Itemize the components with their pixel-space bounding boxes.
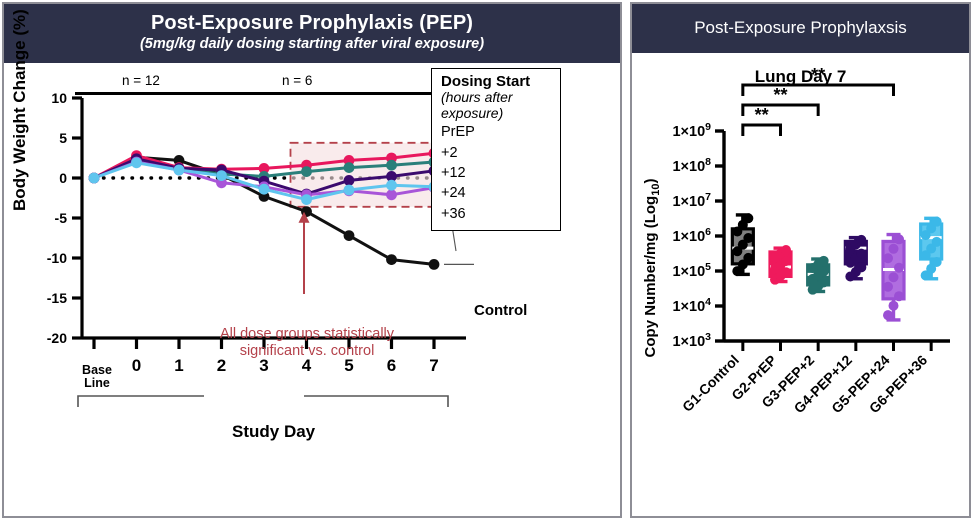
svg-text:-10: -10 — [47, 250, 67, 266]
left-header-subtitle: (5mg/kg daily dosing starting after vira… — [10, 36, 614, 53]
legend-subtitle-line1: (hours after — [441, 90, 552, 106]
svg-text:1×109: 1×109 — [672, 121, 711, 140]
svg-text:**: ** — [755, 105, 769, 125]
n-bar-6 — [212, 92, 445, 95]
svg-text:**: ** — [773, 85, 787, 105]
n-label-12: n = 12 — [122, 73, 160, 88]
svg-text:0: 0 — [132, 356, 141, 375]
left-header-title: Post-Exposure Prophylaxis (PEP) — [10, 12, 614, 35]
legend-title: Dosing Start — [441, 74, 552, 91]
svg-text:-5: -5 — [55, 210, 68, 226]
svg-text:1×104: 1×104 — [672, 296, 711, 315]
legend-item-plus24: +24 — [441, 183, 552, 203]
right-header-title: Post-Exposure Prophylaxsis — [694, 18, 907, 37]
annotation-line1: All dose groups statistically — [220, 326, 394, 342]
lung-day-title: Lung Day 7 — [632, 67, 969, 87]
ylabel-main: Copy Number/mg (Log — [642, 196, 659, 358]
svg-text:0: 0 — [59, 170, 67, 186]
left-y-axis-label: Body Weight Change (%) — [10, 11, 30, 211]
svg-text:1×106: 1×106 — [672, 226, 711, 245]
legend-subtitle-line2: exposure) — [441, 106, 552, 122]
svg-text:1×105: 1×105 — [672, 261, 711, 280]
svg-text:10: 10 — [51, 90, 67, 106]
x-axis-label: Study Day — [232, 422, 315, 442]
svg-text:G1-Control: G1-Control — [679, 352, 742, 415]
svg-text:1×103: 1×103 — [672, 331, 711, 350]
ylabel-end: ) — [642, 179, 659, 184]
right-panel-header: Post-Exposure Prophylaxsis — [632, 4, 969, 53]
right-panel: Post-Exposure Prophylaxsis Lung Day 7 Co… — [630, 2, 971, 518]
svg-text:1×108: 1×108 — [672, 156, 711, 175]
legend-item-prep: PrEP — [441, 122, 552, 142]
svg-text:1×107: 1×107 — [672, 191, 711, 210]
svg-text:-15: -15 — [47, 290, 67, 306]
ylabel-sub: 10 — [650, 184, 662, 196]
svg-text:5: 5 — [59, 130, 67, 146]
legend-item-plus36: +36 — [441, 204, 552, 224]
right-y-axis-label: Copy Number/mg (Log10) — [642, 153, 662, 383]
svg-text:-20: -20 — [47, 330, 67, 346]
legend-item-plus2: +2 — [441, 143, 552, 163]
dosing-start-legend: Dosing Start (hours after exposure) PrEP… — [431, 68, 561, 231]
significance-annotation: All dose groups statistically significan… — [182, 326, 432, 361]
n-label-6: n = 6 — [282, 73, 312, 88]
left-plot-area: Body Weight Change (%) n = 12 n = 6 1050… — [4, 63, 620, 516]
control-series-label: Control — [474, 302, 527, 319]
viral-load-boxplot: 1×1091×1081×1071×1061×1051×1041×103*****… — [632, 53, 969, 488]
x-tick-baseline: Base Line — [74, 364, 120, 390]
left-panel: Post-Exposure Prophylaxis (PEP) (5mg/kg … — [2, 2, 622, 518]
baseline-line1: Base — [82, 363, 112, 377]
legend-item-plus12: +12 — [441, 163, 552, 183]
annotation-line2: significant vs. control — [240, 343, 375, 359]
figure-root: Post-Exposure Prophylaxis (PEP) (5mg/kg … — [0, 0, 975, 522]
right-plot-area: Lung Day 7 Copy Number/mg (Log10) 1×1091… — [632, 53, 969, 516]
baseline-line2: Line — [84, 376, 110, 390]
left-panel-header: Post-Exposure Prophylaxis (PEP) (5mg/kg … — [4, 4, 620, 63]
